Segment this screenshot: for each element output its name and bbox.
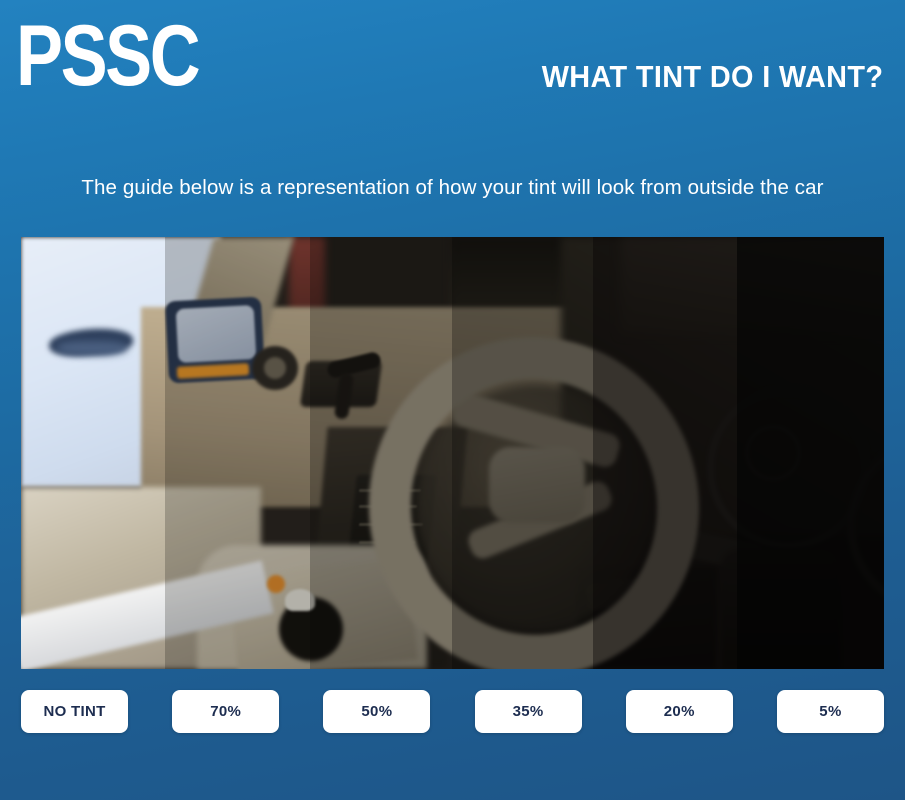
tint-button-20[interactable]: 20% <box>626 690 733 733</box>
tint-overlay-layer <box>21 237 884 669</box>
tint-button-50[interactable]: 50% <box>323 690 430 733</box>
tint-button-5[interactable]: 5% <box>777 690 884 733</box>
tint-panel-5 <box>737 237 884 669</box>
tint-panel-35 <box>452 237 593 669</box>
tint-panel-no-tint <box>21 237 165 669</box>
tint-panel-70 <box>165 237 310 669</box>
tint-panel-20 <box>593 237 737 669</box>
page-header: PSSC WHAT TINT DO I WANT? <box>0 0 905 140</box>
tint-button-35[interactable]: 35% <box>475 690 582 733</box>
tint-button-row: NO TINT 70% 50% 35% 20% 5% <box>21 689 884 733</box>
tint-button-no-tint[interactable]: NO TINT <box>21 690 128 733</box>
guide-subtitle: The guide below is a representation of h… <box>0 176 905 200</box>
tint-button-70[interactable]: 70% <box>172 690 279 733</box>
page-title: WHAT TINT DO I WANT? <box>541 60 883 94</box>
tint-panel-50 <box>310 237 452 669</box>
tint-comparison-photo <box>21 237 884 669</box>
pssc-logo: PSSC <box>16 13 198 99</box>
